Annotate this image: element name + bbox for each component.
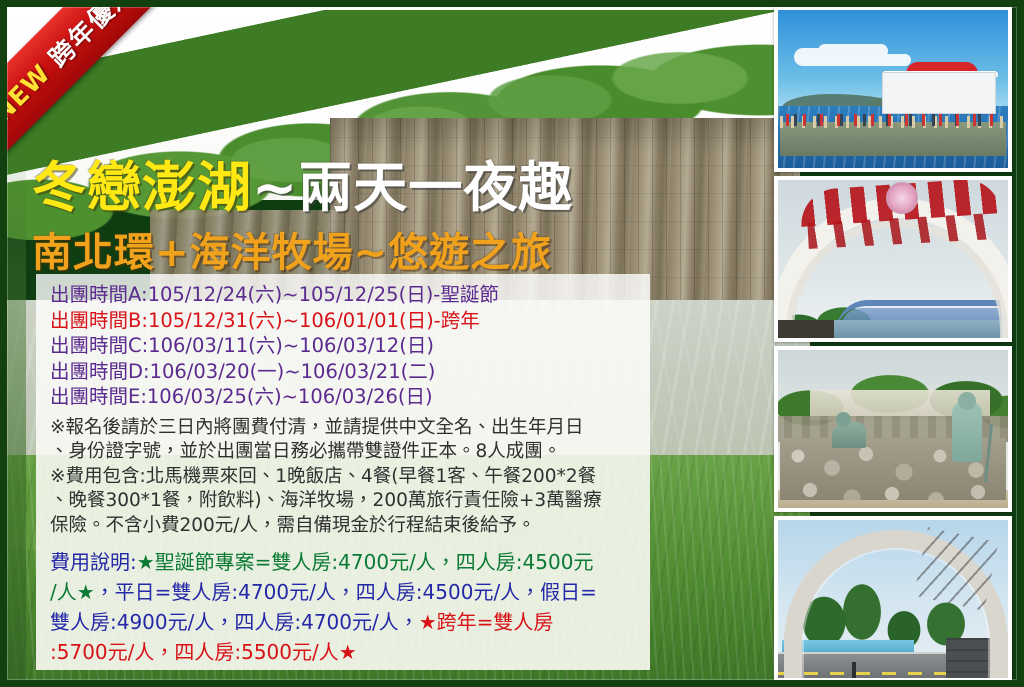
list-item: 出團時間C:106/03/11(六)~106/03/12(日) bbox=[50, 333, 640, 359]
price-line: 雙人房:4900元/人，四人房:4700元/人，★跨年=雙人房 bbox=[50, 607, 640, 637]
left-green-vignette bbox=[0, 0, 26, 687]
photo-coral-wall-statues-image bbox=[778, 350, 1008, 508]
list-item: 出團時間E:106/03/25(六)~106/03/26(日) bbox=[50, 384, 640, 410]
photo-gallery bbox=[774, 6, 1016, 681]
note-line: ※報名後請於三日內將團費付清，並請提供中文全名、出生年月日 bbox=[50, 416, 640, 441]
headline-block: 冬戀澎湖~兩天一夜趣 南北環+海洋牧場~悠遊之旅 bbox=[32, 160, 752, 278]
note-line: 保險。不含小費200元/人，需自備現金於行程結束後給予。 bbox=[50, 514, 640, 539]
price-line: :5700元/人，四人房:5500元/人★ bbox=[50, 637, 640, 667]
title-highlight: 冬戀澎湖 bbox=[32, 156, 252, 219]
cloud bbox=[794, 48, 868, 66]
tourists bbox=[786, 114, 1000, 126]
page-title: 冬戀澎湖~兩天一夜趣 bbox=[32, 160, 752, 216]
page-subtitle: 南北環+海洋牧場~悠遊之旅 bbox=[32, 220, 752, 278]
price-section: 費用說明:★聖誕節專案=雙人房:4700元/人，四人房:4500元 /人★，平日… bbox=[50, 547, 640, 667]
arch-engraved-characters bbox=[914, 527, 999, 610]
platform-building bbox=[882, 72, 996, 114]
price-line: 費用說明:★聖誕節專案=雙人房:4700元/人，四人房:4500元 bbox=[50, 547, 640, 577]
title-rest: ~兩天一夜趣 bbox=[252, 156, 573, 219]
arch-emblem bbox=[886, 182, 918, 214]
price-newyear: ★跨年=雙人房 bbox=[419, 610, 554, 634]
bronze-statue-seated-head bbox=[958, 392, 976, 410]
photo-bridge-arch-image bbox=[778, 520, 1008, 678]
roadside-building bbox=[778, 320, 834, 338]
photo-welcome-arch-image bbox=[778, 180, 1008, 338]
note-line: 、身份證字號，並於出團當日務必攜帶雙證件正本。8人成團。 bbox=[50, 440, 640, 465]
note-line: 、晚餐300*1餐，附飲料)、海洋牧場，200萬旅行責任險+3萬醫療 bbox=[50, 489, 640, 514]
departure-date-list: 出團時間A:105/12/24(六)~105/12/25(日)-聖誕節 出團時間… bbox=[50, 282, 640, 410]
price-weekday: ，平日=雙人房:4700元/人，四人房:4500元/人，假日= bbox=[95, 580, 597, 604]
price-newyear-cont: :5700元/人，四人房:5500元/人★ bbox=[50, 640, 357, 664]
price-heading: 費用說明: bbox=[50, 550, 137, 574]
price-christmas-cont: /人★ bbox=[50, 580, 95, 604]
price-christmas: ★聖誕節專案=雙人房:4700元/人，四人房:4500元 bbox=[137, 550, 594, 574]
photo-ocean-pasture bbox=[774, 6, 1012, 172]
list-item: 出團時間A:105/12/24(六)~105/12/25(日)-聖誕節 bbox=[50, 282, 640, 308]
photo-welcome-arch bbox=[774, 176, 1012, 342]
info-panel: 出團時間A:105/12/24(六)~105/12/25(日)-聖誕節 出團時間… bbox=[36, 274, 650, 670]
photo-ocean-pasture-image bbox=[778, 10, 1008, 168]
travel-poster: NEW 跨年優選 冬戀澎湖~兩天一夜趣 南北環+海洋牧場~悠遊之旅 出團時間A:… bbox=[0, 0, 1024, 687]
note-line: ※費用包含:北馬機票來回、1晚飯店、4餐(早餐1客、午餐200*2餐 bbox=[50, 465, 640, 490]
bronze-statue-crouching bbox=[832, 422, 866, 448]
photo-bridge-arch bbox=[774, 516, 1012, 682]
list-item: 出團時間D:106/03/20(一)~106/03/21(二) bbox=[50, 359, 640, 385]
photo-coral-wall-statues bbox=[774, 346, 1012, 512]
bronze-statue-crouching-head bbox=[836, 412, 851, 427]
price-holiday: 雙人房:4900元/人，四人房:4700元/人， bbox=[50, 610, 419, 634]
terms-notes: ※報名後請於三日內將團費付清，並請提供中文全名、出生年月日 、身份證字號，並於出… bbox=[50, 416, 640, 539]
list-item: 出團時間B:105/12/31(六)~106/01/01(日)-跨年 bbox=[50, 308, 640, 334]
price-line: /人★，平日=雙人房:4700元/人，四人房:4500元/人，假日= bbox=[50, 577, 640, 607]
